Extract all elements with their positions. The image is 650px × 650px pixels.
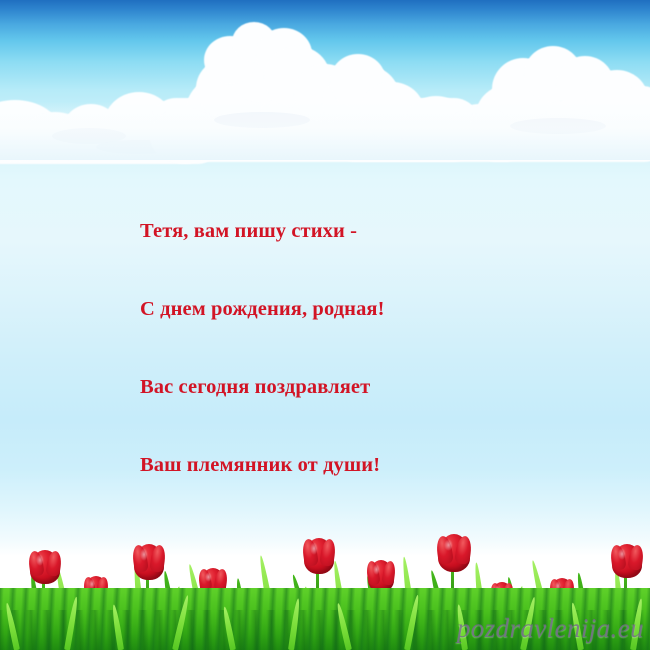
- cloud-band: [0, 0, 650, 160]
- poem-line: Вас сегодня поздравляет: [140, 374, 560, 400]
- tulip-highlight: [140, 548, 148, 560]
- poem-line: С днем рождения, родная!: [140, 296, 560, 322]
- tulip-flower: [304, 538, 334, 574]
- tulip-flower: [612, 544, 642, 578]
- tulip-flower: [30, 550, 60, 584]
- cloud-fade: [0, 102, 650, 160]
- tulip-highlight: [373, 564, 380, 575]
- tulip-highlight: [36, 554, 44, 566]
- greeting-card: Тетя, вам пишу стихи - С днем рождения, …: [0, 0, 650, 650]
- tulip-highlight: [205, 572, 212, 582]
- tulip-highlight: [618, 548, 626, 560]
- tulip-highlight: [310, 542, 318, 554]
- tulip-flower: [134, 544, 164, 580]
- tulip-highlight: [444, 539, 452, 552]
- poem-line: Ваш племянник от души!: [140, 452, 560, 478]
- tulip-flower: [438, 534, 470, 572]
- site-watermark: pozdravlenija.eu: [457, 613, 644, 644]
- poem-line: Тетя, вам пишу стихи -: [140, 218, 560, 244]
